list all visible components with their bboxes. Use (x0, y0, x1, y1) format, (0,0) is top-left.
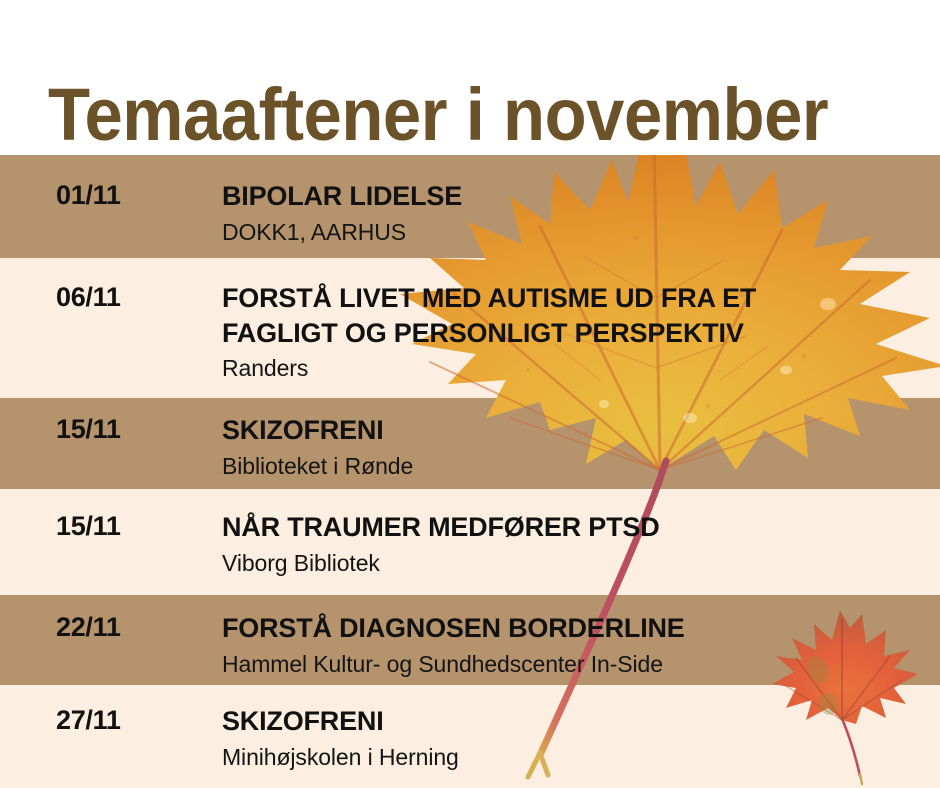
poster-canvas: Temaaftener i november 01/11 BIPOLAR LID… (0, 0, 940, 788)
event-title: SKIZOFRENI (222, 413, 932, 448)
event-body: SKIZOFRENI Biblioteket i Rønde (222, 413, 932, 480)
event-row[interactable]: 27/11 SKIZOFRENI Minihøjskolen i Herning (0, 685, 940, 788)
event-venue: Viborg Bibliotek (222, 549, 932, 578)
event-venue: Randers (222, 354, 932, 383)
event-venue: Minihøjskolen i Herning (222, 743, 932, 772)
event-title: FORSTÅ DIAGNOSEN BORDERLINE (222, 611, 932, 646)
event-date: 27/11 (56, 705, 121, 736)
event-title: FORSTÅ LIVET MED AUTISME UD FRA ET FAGLI… (222, 281, 842, 350)
event-title: BIPOLAR LIDELSE (222, 179, 932, 214)
event-venue: Hammel Kultur- og Sundhedscenter In-Side (222, 650, 932, 679)
event-date: 22/11 (56, 612, 121, 643)
event-title: SKIZOFRENI (222, 704, 932, 739)
page-title: Temaaftener i november (48, 76, 828, 154)
event-body: BIPOLAR LIDELSE DOKK1, AARHUS (222, 179, 932, 246)
event-date: 15/11 (56, 414, 121, 445)
poster-header: Temaaftener i november (0, 0, 940, 155)
event-date: 15/11 (56, 511, 121, 542)
event-row[interactable]: 15/11 SKIZOFRENI Biblioteket i Rønde (0, 398, 940, 489)
event-title: NÅR TRAUMER MEDFØRER PTSD (222, 510, 932, 545)
event-body: FORSTÅ DIAGNOSEN BORDERLINE Hammel Kultu… (222, 611, 932, 678)
event-row[interactable]: 22/11 FORSTÅ DIAGNOSEN BORDERLINE Hammel… (0, 595, 940, 685)
event-body: FORSTÅ LIVET MED AUTISME UD FRA ET FAGLI… (222, 281, 932, 383)
event-body: SKIZOFRENI Minihøjskolen i Herning (222, 704, 932, 771)
event-venue: Biblioteket i Rønde (222, 452, 932, 481)
event-date: 06/11 (56, 282, 121, 313)
event-row[interactable]: 01/11 BIPOLAR LIDELSE DOKK1, AARHUS (0, 155, 940, 258)
event-row[interactable]: 15/11 NÅR TRAUMER MEDFØRER PTSD Viborg B… (0, 489, 940, 595)
event-venue: DOKK1, AARHUS (222, 218, 932, 247)
event-row[interactable]: 06/11 FORSTÅ LIVET MED AUTISME UD FRA ET… (0, 258, 940, 398)
event-body: NÅR TRAUMER MEDFØRER PTSD Viborg Bibliot… (222, 510, 932, 577)
event-date: 01/11 (56, 180, 121, 211)
